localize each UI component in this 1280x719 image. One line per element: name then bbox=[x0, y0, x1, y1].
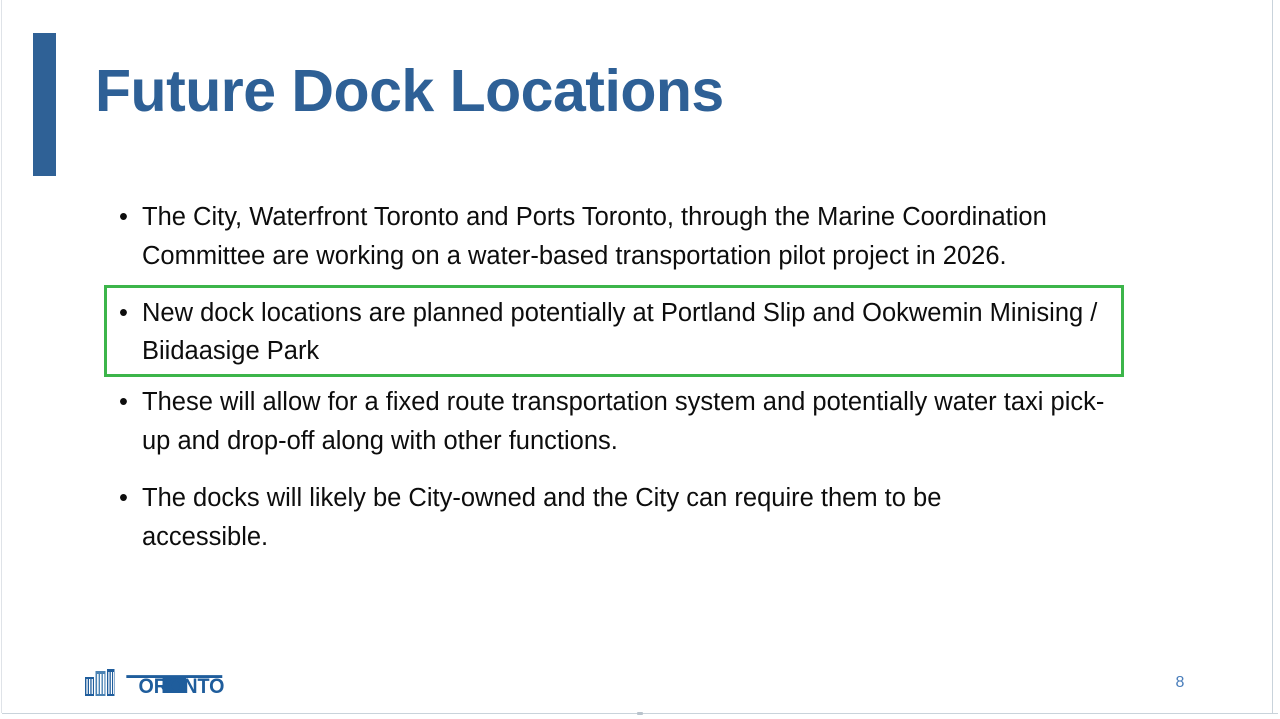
slide-canvas: Future Dock Locations • The City, Waterf… bbox=[0, 0, 1280, 719]
list-item-text: The City, Waterfront Toronto and Ports T… bbox=[142, 198, 1110, 276]
highlighted-bullet-group: • New dock locations are planned potenti… bbox=[112, 294, 1132, 372]
list-item: • These will allow for a fixed route tra… bbox=[112, 383, 1132, 461]
bullet-marker-icon: • bbox=[112, 383, 142, 422]
bullet-marker-icon: • bbox=[112, 198, 142, 237]
page-number: 8 bbox=[1168, 674, 1192, 692]
spacer bbox=[112, 276, 1132, 294]
toronto-wordmark: T ORONTO bbox=[124, 669, 225, 696]
list-item: • New dock locations are planned potenti… bbox=[112, 294, 1132, 372]
bullet-marker-icon: • bbox=[112, 294, 142, 333]
svg-text:ORONTO: ORONTO bbox=[139, 675, 225, 696]
spacer bbox=[112, 371, 1132, 383]
list-item-text: These will allow for a fixed route trans… bbox=[142, 383, 1130, 461]
title-accent-bar bbox=[33, 33, 56, 176]
viewer-edge-right bbox=[1272, 0, 1273, 713]
list-item-text: New dock locations are planned potential… bbox=[142, 294, 1110, 372]
viewer-edge-nub bbox=[637, 712, 643, 715]
bullet-marker-icon: • bbox=[112, 479, 142, 518]
viewer-edge-left bbox=[1, 0, 2, 713]
page-title: Future Dock Locations bbox=[95, 62, 724, 121]
list-item-text: The docks will likely be City-owned and … bbox=[142, 479, 1062, 557]
city-of-toronto-logo: T ORONTO bbox=[85, 668, 225, 696]
spacer bbox=[112, 461, 1132, 479]
toronto-skyline-icon bbox=[85, 669, 119, 696]
bullet-list: • The City, Waterfront Toronto and Ports… bbox=[112, 198, 1132, 556]
list-item: • The docks will likely be City-owned an… bbox=[112, 479, 1132, 557]
list-item: • The City, Waterfront Toronto and Ports… bbox=[112, 198, 1132, 276]
